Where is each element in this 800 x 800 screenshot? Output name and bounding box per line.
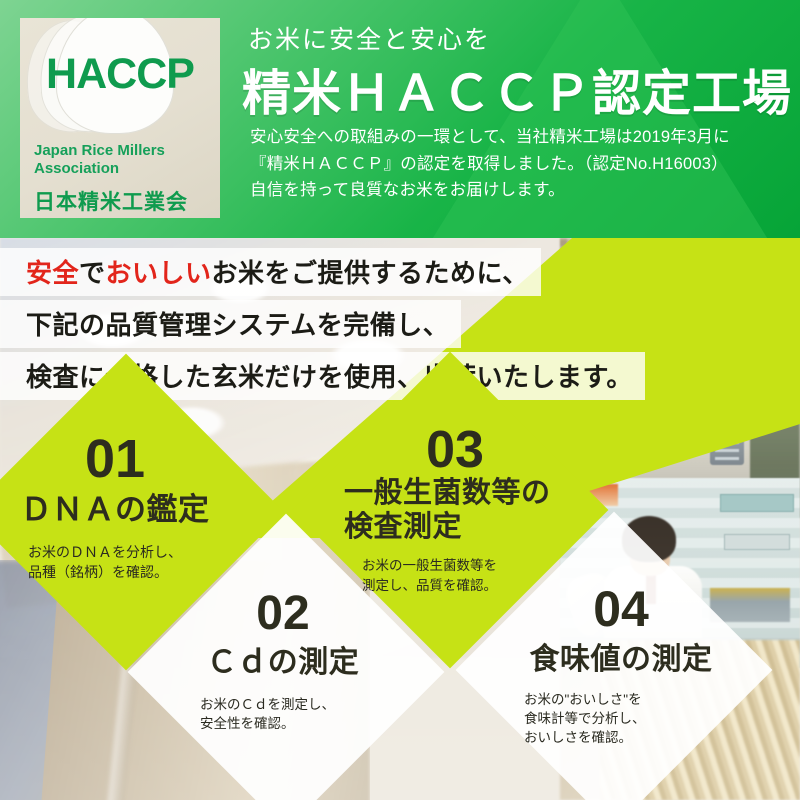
infographic-page: HACCP Japan Rice Millers Association 日本精… bbox=[0, 0, 800, 800]
logo-haccp-text: HACCP bbox=[20, 50, 220, 99]
item-04-caption-line3: おいしさを確認。 bbox=[524, 728, 746, 747]
quality-item-03: 03 一般生菌数等の 検査測定 お米の一般生菌数等を 測定し、品質を確認。 bbox=[330, 420, 580, 595]
item-04-title: 食味値の測定 bbox=[496, 634, 746, 678]
header-description-line1: 安心安全への取組みの一環として、当社精米工場は2019年3月に bbox=[250, 124, 785, 151]
logo-org-en-line2: Association bbox=[34, 160, 220, 178]
lab-shelf-lower bbox=[724, 534, 790, 550]
quality-item-01: 01 ＤＮＡの鑑定 お米のＤＮＡを分析し、 品種（銘柄）を確認。 bbox=[0, 428, 230, 583]
item-03-number: 03 bbox=[330, 420, 580, 480]
item-03-title: 一般生菌数等の 検査測定 bbox=[330, 476, 580, 544]
quality-item-04: 04 食味値の測定 お米の"おいしさ"を 食味計等で分析し、 おいしさを確認。 bbox=[496, 580, 746, 747]
item-01-number: 01 bbox=[0, 428, 230, 490]
control-panel bbox=[710, 413, 744, 465]
quality-item-02: 02 Ｃｄの測定 お米のＣｄを測定し、 安全性を確認。 bbox=[168, 586, 398, 733]
item-01-caption: お米のＤＮＡを分析し、 品種（銘柄）を確認。 bbox=[0, 543, 230, 583]
item-04-caption-line2: 食味計等で分析し、 bbox=[524, 709, 746, 728]
item-02-caption-line2: 安全性を確認。 bbox=[200, 714, 398, 733]
item-03-caption-line1: お米の一般生菌数等を bbox=[362, 556, 580, 575]
header-description: 安心安全への取組みの一環として、当社精米工場は2019年3月に 『精米ＨＡＣＣＰ… bbox=[250, 124, 785, 204]
item-01-title: ＤＮＡの鑑定 bbox=[0, 484, 230, 529]
item-04-number: 04 bbox=[496, 580, 746, 638]
message-line-1: 安全でおいしいお米をご提供するために、 bbox=[0, 248, 541, 296]
header-title: 精米ＨＡＣＣＰ認定工場 bbox=[242, 54, 792, 125]
logo-org-jp: 日本精米工業会 bbox=[34, 186, 220, 216]
header-description-line2: 『精米ＨＡＣＣＰ』の認定を取得しました。（認定No.H16003） bbox=[250, 151, 785, 178]
logo-org-en: Japan Rice Millers Association bbox=[34, 142, 220, 179]
item-02-caption: お米のＣｄを測定し、 安全性を確認。 bbox=[168, 695, 398, 733]
item-01-caption-line1: お米のＤＮＡを分析し、 bbox=[28, 543, 230, 563]
message-highlight-delicious: おいしい bbox=[106, 258, 212, 288]
item-03-title-line1: 一般生菌数等の bbox=[344, 476, 580, 510]
message-line-2: 下記の品質管理システムを完備し、 bbox=[0, 300, 461, 348]
item-02-caption-line1: お米のＣｄを測定し、 bbox=[200, 695, 398, 714]
header-banner: HACCP Japan Rice Millers Association 日本精… bbox=[0, 0, 800, 238]
message-highlight-safety: 安全 bbox=[26, 258, 79, 288]
item-02-title: Ｃｄの測定 bbox=[168, 637, 398, 681]
lab-shelf-upper bbox=[720, 494, 794, 512]
message-line1-mid: で bbox=[79, 258, 106, 288]
haccp-logo: HACCP Japan Rice Millers Association 日本精… bbox=[20, 18, 220, 218]
item-03-title-line2: 検査測定 bbox=[344, 510, 580, 544]
item-01-caption-line2: 品種（銘柄）を確認。 bbox=[28, 563, 230, 583]
item-04-caption: お米の"おいしさ"を 食味計等で分析し、 おいしさを確認。 bbox=[496, 690, 746, 747]
message-line1-rest: お米をご提供するために、 bbox=[212, 258, 529, 288]
header-kicker: お米に安全と安心を bbox=[248, 20, 491, 56]
item-04-caption-line1: お米の"おいしさ"を bbox=[524, 690, 746, 709]
logo-org-en-line1: Japan Rice Millers bbox=[34, 142, 220, 160]
header-description-line3: 自信を持って良質なお米をお届けします。 bbox=[250, 177, 785, 204]
